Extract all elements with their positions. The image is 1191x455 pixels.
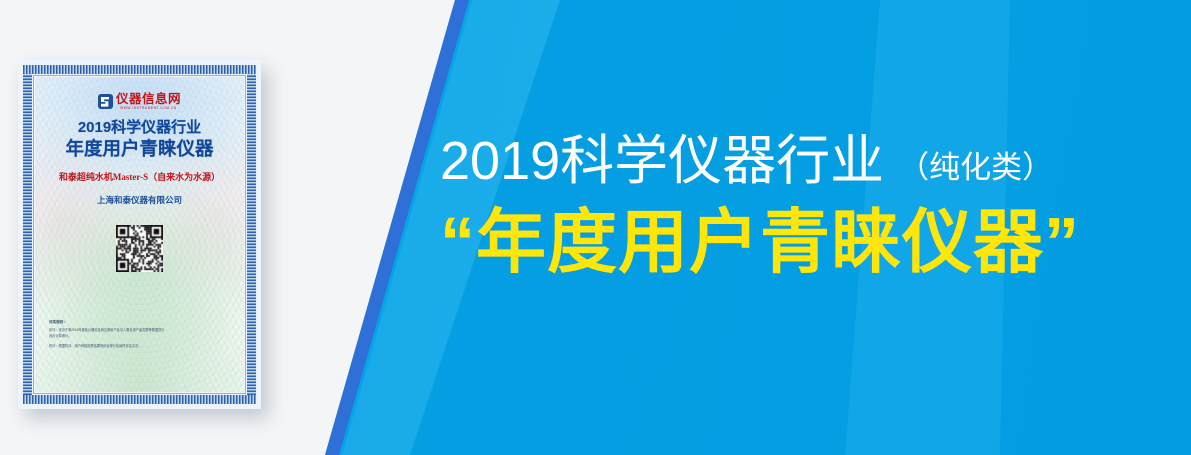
certificate-company-name: 上海和泰仪器有限公司 — [97, 195, 182, 205]
award-banner: 2019科学仪器行业 （纯化类） “年度用户青睐仪器” 仪器信息网 WWW.IN… — [0, 0, 1191, 455]
certificate-notes-line2: 综合计算得分。 — [49, 334, 230, 339]
certificate-logo-url: WWW.INSTRUMENT.COM.CN — [120, 107, 177, 110]
certificate-product-name: 和泰超纯水机Master-S（自来水为水源） — [59, 172, 220, 183]
award-certificate: 仪器信息网 WWW.INSTRUMENT.COM.CN 2019科学仪器行业 年… — [18, 60, 261, 409]
headline-award-name: “年度用户青睐仪器” — [440, 204, 1180, 281]
certificate-logo-name: 仪器信息网 — [116, 93, 181, 106]
certificate-logo: 仪器信息网 WWW.INSTRUMENT.COM.CN — [98, 93, 181, 110]
certificate-title-line2: 年度用户青睐仪器 — [65, 138, 213, 159]
headline-category: （纯化类） — [898, 152, 1053, 190]
certificate-guilloche-field: 仪器信息网 WWW.INSTRUMENT.COM.CN 2019科学仪器行业 年… — [35, 77, 244, 392]
certificate-logo-text: 仪器信息网 WWW.INSTRUMENT.COM.CN — [116, 93, 181, 110]
certificate-notes-line3: 终评：根据初评、用户网络投票结果的综合得分及最终评定名次。 — [49, 344, 230, 349]
certificate-notes-heading: 评奖规则： — [49, 320, 230, 325]
headline-block: 2019科学仪器行业 （纯化类） “年度用户青睐仪器” — [440, 132, 1180, 281]
certificate-content: 仪器信息网 WWW.INSTRUMENT.COM.CN 2019科学仪器行业 年… — [35, 77, 244, 392]
headline-title: 2019科学仪器行业 — [440, 132, 884, 190]
qr-code — [116, 225, 163, 272]
certificate-notes-line1: 初评：来自于第2019年度各仪器信息网注册用户及访人数及用户留言数等数据进行 — [49, 328, 230, 333]
certificate-notes: 评奖规则： 初评：来自于第2019年度各仪器信息网注册用户及访人数及用户留言数等… — [49, 320, 230, 350]
instrument-net-logo-icon — [98, 94, 113, 109]
headline-row: 2019科学仪器行业 （纯化类） — [440, 132, 1180, 190]
qr-code-canvas — [116, 225, 163, 272]
certificate-title-line1: 2019科学仪器行业 — [78, 119, 201, 136]
